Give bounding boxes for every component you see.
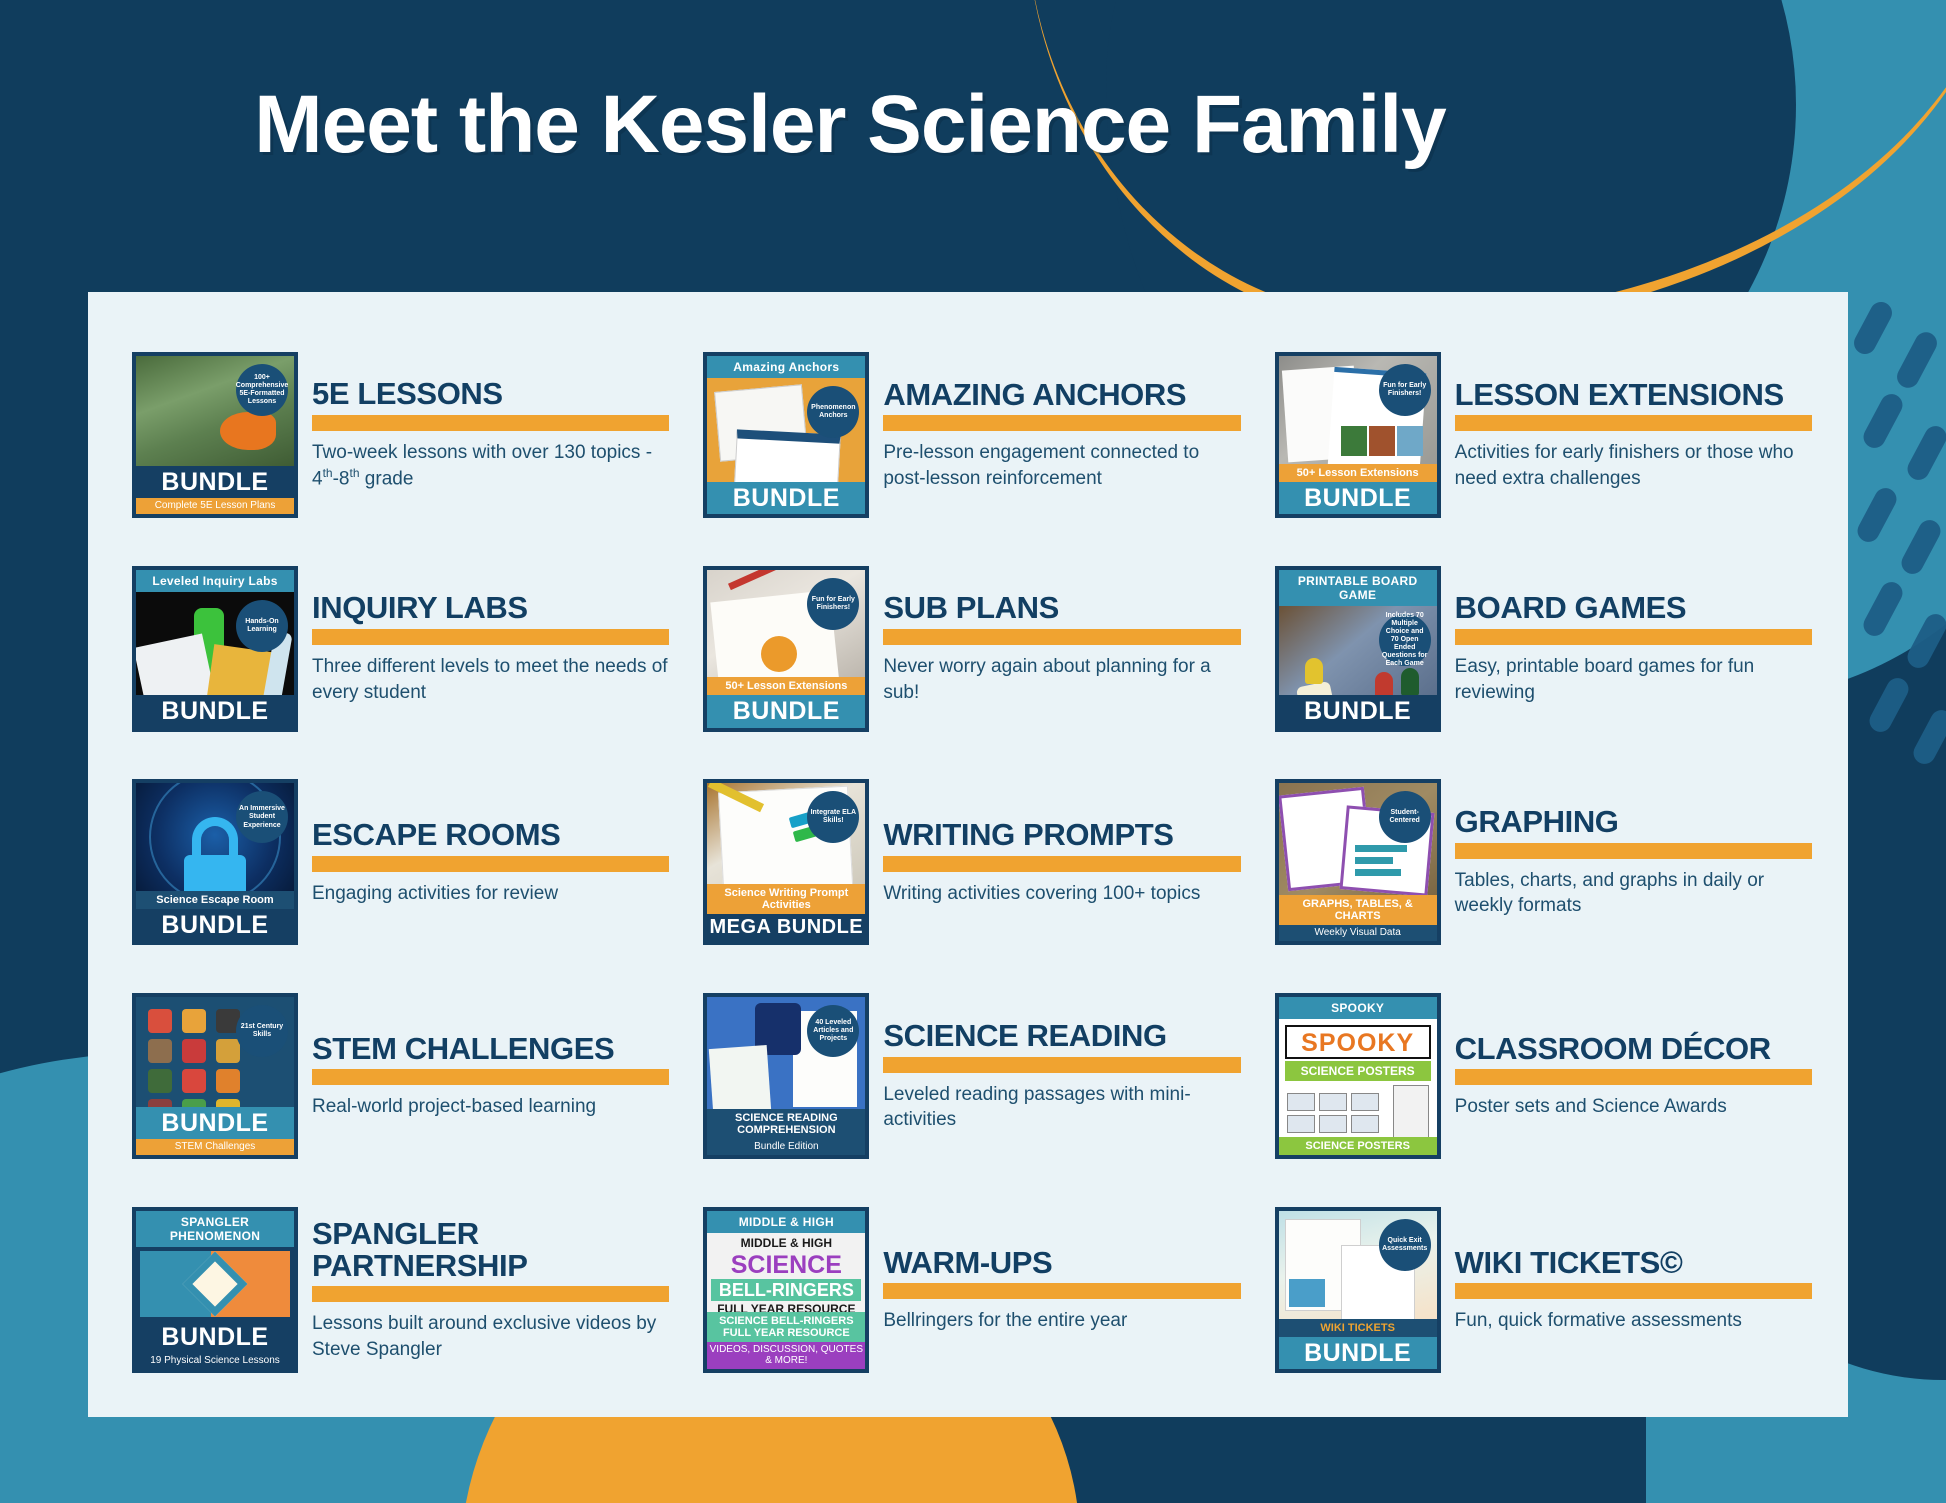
dash-decor [1860, 390, 1907, 452]
thumbnail-strip-label: 50+ Lesson Extensions [1279, 464, 1437, 482]
dash-decor [1866, 674, 1913, 736]
product-description: Tables, charts, and graphs in daily or w… [1455, 868, 1812, 919]
product-body: STEM CHALLENGESReal-world project-based … [312, 1033, 669, 1120]
product-heading: INQUIRY LABS [312, 592, 669, 624]
dash-decor [1860, 578, 1907, 640]
product-body: SCIENCE READINGLeveled reading passages … [883, 1020, 1240, 1133]
thumbnail-strip-label: 50+ Lesson Extensions [707, 677, 865, 695]
orange-underline [312, 1286, 669, 1302]
product-item[interactable]: Student-CenteredGRAPHS, TABLES, & CHARTS… [1257, 756, 1822, 970]
thumbnail-badge: Fun for Early Finishers! [807, 578, 859, 630]
product-body: GRAPHINGTables, charts, and graphs in da… [1455, 806, 1812, 919]
poster-thumb [1287, 1115, 1315, 1133]
orange-underline [312, 856, 669, 872]
orange-underline [883, 856, 1240, 872]
dash-decor [1898, 516, 1945, 578]
stem-icon [216, 1069, 240, 1093]
cover-science-text: SCIENCE [711, 1252, 861, 1278]
poster-thumb [1319, 1093, 1347, 1111]
product-thumbnail[interactable]: Quick Exit AssessmentsWIKI TICKETSBUNDLE [1275, 1207, 1441, 1373]
product-body: BOARD GAMESEasy, printable board games f… [1455, 592, 1812, 705]
thumbnail-sublabel: Weekly Visual Data [1279, 925, 1437, 941]
thumbnail-top-tag: SPOOKY [1279, 997, 1437, 1019]
thumbnail-image [136, 1247, 294, 1321]
fish-shape [220, 412, 276, 450]
product-heading: SPANGLER PARTNERSHIP [312, 1218, 669, 1281]
product-heading: SCIENCE READING [883, 1020, 1240, 1052]
thumbnail-badge: Student-Centered [1379, 791, 1431, 843]
thumbnail-top-tag: PRINTABLE BOARD GAME [1279, 570, 1437, 606]
product-thumbnail[interactable]: 40 Leveled Articles and ProjectsSCIENCE … [703, 993, 869, 1159]
poster-thumb [1287, 1093, 1315, 1111]
product-thumbnail[interactable]: 21st Century SkillsBUNDLESTEM Challenges [132, 993, 298, 1159]
product-description: Never worry again about planning for a s… [883, 654, 1240, 705]
product-body: ESCAPE ROOMSEngaging activities for revi… [312, 819, 669, 906]
thumbnail-bundle-label: BUNDLE [707, 695, 865, 727]
product-item[interactable]: 100+ Comprehensive 5E-Formatted LessonsB… [114, 328, 679, 542]
orange-underline [883, 1057, 1240, 1073]
thumbnail-top-tag: Leveled Inquiry Labs [136, 570, 294, 592]
bar-shape [1355, 869, 1401, 876]
thumbnail-image: Fun for Early Finishers! [1279, 356, 1437, 464]
thumbnail-badge: 100+ Comprehensive 5E-Formatted Lessons [236, 364, 288, 416]
pencil-shape [728, 570, 782, 590]
cover-bellringers-text: BELL-RINGERS [711, 1279, 861, 1301]
thumbnail-sublabel: 19 Physical Science Lessons [136, 1353, 294, 1369]
thumbnail-image: 40 Leveled Articles and Projects [707, 997, 865, 1109]
product-heading: WRITING PROMPTS [883, 819, 1240, 851]
product-thumbnail[interactable]: SPOOKYSPOOKYSCIENCE POSTERSSCIENCE POSTE… [1275, 993, 1441, 1159]
stem-icon [148, 1039, 172, 1063]
product-thumbnail[interactable]: SPANGLER PHENOMENONBUNDLE19 Physical Sci… [132, 1207, 298, 1373]
products-panel: 100+ Comprehensive 5E-Formatted LessonsB… [88, 292, 1848, 1417]
orange-underline [1455, 1283, 1812, 1299]
posters-subtitle: SCIENCE POSTERS [1285, 1061, 1431, 1081]
product-description: Real-world project-based learning [312, 1094, 669, 1119]
page-title: Meet the Kesler Science Family [0, 78, 1700, 172]
product-item[interactable]: Quick Exit AssessmentsWIKI TICKETSBUNDLE… [1257, 1183, 1822, 1397]
bar-shape [1355, 845, 1407, 852]
photo-tile [1369, 426, 1395, 456]
orange-underline [1455, 843, 1812, 859]
thumbnail-bundle-label: BUNDLE [1279, 695, 1437, 727]
thumbnail-image: An Immersive Student Experience [136, 783, 294, 891]
stem-icon [182, 1039, 206, 1063]
thumbnail-image: 21st Century Skills [136, 997, 294, 1107]
product-item[interactable]: Fun for Early Finishers!50+ Lesson Exten… [685, 542, 1250, 756]
thumbnail-bundle-label: BUNDLE [136, 695, 294, 727]
product-item[interactable]: 40 Leveled Articles and ProjectsSCIENCE … [685, 969, 1250, 1183]
product-item[interactable]: Fun for Early Finishers!50+ Lesson Exten… [1257, 328, 1822, 542]
thumbnail-sublabel: Bundle Edition [707, 1139, 865, 1155]
thumbnail-strip-label: WIKI TICKETS [1279, 1319, 1437, 1337]
thumbnail-badge: Fun for Early Finishers! [1379, 364, 1431, 416]
product-thumbnail[interactable]: MIDDLE & HIGHMIDDLE & HIGHSCIENCEBELL-RI… [703, 1207, 869, 1373]
stem-icon [148, 1099, 172, 1107]
photo-tile [1289, 1279, 1325, 1307]
photo-tile [1397, 426, 1423, 456]
product-item[interactable]: Integrate ELA Skills!Science Writing Pro… [685, 756, 1250, 970]
orange-underline [1455, 1069, 1812, 1085]
poster-thumb [1319, 1115, 1347, 1133]
orange-underline [1455, 629, 1812, 645]
cover-year-text: FULL YEAR RESOURCE [711, 1302, 861, 1312]
orange-underline [1455, 415, 1812, 431]
thumbnail-image: 100+ Comprehensive 5E-Formatted Lessons [136, 356, 294, 466]
product-description: Fun, quick formative assessments [1455, 1308, 1812, 1333]
poster-thumb [1351, 1093, 1379, 1111]
product-thumbnail[interactable]: Amazing AnchorsPhenomenon AnchorsBUNDLE [703, 352, 869, 518]
product-heading: WARM-UPS [883, 1247, 1240, 1279]
orange-underline [883, 415, 1240, 431]
orange-underline [883, 629, 1240, 645]
product-description: Two-week lessons with over 130 topics - … [312, 440, 669, 492]
product-item[interactable]: Leveled Inquiry LabsHands-On LearningBUN… [114, 542, 679, 756]
product-description: Bellringers for the entire year [883, 1308, 1240, 1333]
photo-tile [1341, 426, 1367, 456]
product-heading: SUB PLANS [883, 592, 1240, 624]
thumbnail-image: Student-Centered [1279, 783, 1437, 895]
thumbnail-strip-label: Science Escape Room [136, 891, 294, 909]
paper-shape [734, 429, 842, 481]
product-item[interactable]: An Immersive Student ExperienceScience E… [114, 756, 679, 970]
dash-decor [1893, 328, 1941, 391]
thumbnail-badge: 21st Century Skills [236, 1005, 288, 1057]
product-body: WRITING PROMPTSWriting activities coveri… [883, 819, 1240, 906]
stem-icon [182, 1099, 206, 1107]
paper-shape [709, 1045, 771, 1109]
product-body: LESSON EXTENSIONSActivities for early fi… [1455, 379, 1812, 492]
product-body: WARM-UPSBellringers for the entire year [883, 1247, 1240, 1334]
product-body: SPANGLER PARTNERSHIPLessons built around… [312, 1218, 669, 1362]
thumbnail-sublabel: Complete 5E Lesson Plans [136, 498, 294, 514]
thumbnail-bundle-label: BUNDLE [1279, 482, 1437, 514]
thumbnail-bundle-label: BUNDLE [707, 482, 865, 514]
pawn-shape [1375, 672, 1393, 696]
orange-underline [312, 1069, 669, 1085]
product-body: AMAZING ANCHORSPre-lesson engagement con… [883, 379, 1240, 492]
product-item[interactable]: MIDDLE & HIGHMIDDLE & HIGHSCIENCEBELL-RI… [685, 1183, 1250, 1397]
cover-top-text: MIDDLE & HIGH [711, 1236, 861, 1252]
product-body: WIKI TICKETS©Fun, quick formative assess… [1455, 1247, 1812, 1334]
stem-icon [216, 1039, 240, 1063]
thumbnail-image: SPOOKYSCIENCE POSTERS [1279, 1019, 1437, 1137]
thumbnail-badge: Hands-On Learning [236, 600, 288, 652]
product-description: Easy, printable board games for fun revi… [1455, 654, 1812, 705]
thumbnail-sublabel: STEM Challenges [136, 1139, 294, 1155]
product-thumbnail[interactable]: An Immersive Student ExperienceScience E… [132, 779, 298, 945]
product-heading: CLASSROOM DÉCOR [1455, 1033, 1812, 1065]
poster-thumb [1393, 1085, 1429, 1137]
pawn-shape [1305, 658, 1323, 684]
thumbnail-strip-label: Science Writing Prompt Activities [707, 884, 865, 914]
product-heading: AMAZING ANCHORS [883, 379, 1240, 411]
product-description: Three different levels to meet the needs… [312, 654, 669, 705]
thumbnail-strip-label: SCIENCE BELL-RINGERS FULL YEAR RESOURCE [707, 1312, 865, 1342]
product-thumbnail[interactable]: Fun for Early Finishers!50+ Lesson Exten… [703, 566, 869, 732]
product-heading: WIKI TICKETS© [1455, 1247, 1812, 1279]
product-thumbnail[interactable]: PRINTABLE BOARD GAMEIncludes 70 Multiple… [1275, 566, 1441, 732]
product-item[interactable]: Amazing AnchorsPhenomenon AnchorsBUNDLEA… [685, 328, 1250, 542]
product-body: INQUIRY LABSThree different levels to me… [312, 592, 669, 705]
thumbnail-image: Quick Exit Assessments [1279, 1211, 1437, 1319]
stem-icon [148, 1009, 172, 1033]
stem-icon [148, 1069, 172, 1093]
product-heading: BOARD GAMES [1455, 592, 1812, 624]
product-item[interactable]: 21st Century SkillsBUNDLESTEM Challenges… [114, 969, 679, 1183]
orange-underline [312, 629, 669, 645]
product-description: Poster sets and Science Awards [1455, 1094, 1812, 1119]
thumbnail-top-tag: SPANGLER PHENOMENON [136, 1211, 294, 1247]
product-item[interactable]: PRINTABLE BOARD GAMEIncludes 70 Multiple… [1257, 542, 1822, 756]
spooky-title: SPOOKY [1285, 1025, 1431, 1059]
thumbnail-badge: Integrate ELA Skills! [807, 791, 859, 843]
thumbnail-strip-label: GRAPHS, TABLES, & CHARTS [1279, 895, 1437, 925]
product-body: CLASSROOM DÉCORPoster sets and Science A… [1455, 1033, 1812, 1120]
thumbnail-bundle-label: BUNDLE [1279, 1337, 1437, 1369]
thumbnail-bundle-label: BUNDLE [136, 466, 294, 498]
product-thumbnail[interactable]: Leveled Inquiry LabsHands-On LearningBUN… [132, 566, 298, 732]
stem-icon [216, 1099, 240, 1107]
thumbnail-bundle-label: BUNDLE [136, 1321, 294, 1353]
product-thumbnail[interactable]: Integrate ELA Skills!Science Writing Pro… [703, 779, 869, 945]
product-thumbnail[interactable]: 100+ Comprehensive 5E-Formatted LessonsB… [132, 352, 298, 518]
product-heading: 5E LESSONS [312, 378, 669, 410]
dash-decor [1904, 610, 1946, 672]
thumbnail-image: Integrate ELA Skills! [707, 783, 865, 884]
thumbnail-image: MIDDLE & HIGHSCIENCEBELL-RINGERSFULL YEA… [707, 1233, 865, 1312]
thumbnail-bundle-label: BUNDLE [136, 909, 294, 941]
dash-decor [1910, 706, 1946, 768]
product-item[interactable]: SPANGLER PHENOMENONBUNDLE19 Physical Sci… [114, 1183, 679, 1397]
product-heading: LESSON EXTENSIONS [1455, 379, 1812, 411]
orange-circle [761, 636, 797, 672]
product-description: Writing activities covering 100+ topics [883, 881, 1240, 906]
thumbnail-badge: Phenomenon Anchors [807, 386, 859, 438]
product-body: SUB PLANSNever worry again about plannin… [883, 592, 1240, 705]
thumbnail-top-tag: Amazing Anchors [707, 356, 865, 378]
product-item[interactable]: SPOOKYSPOOKYSCIENCE POSTERSSCIENCE POSTE… [1257, 969, 1822, 1183]
infographic-canvas: Meet the Kesler Science Family 100+ Comp… [0, 0, 1946, 1503]
thumbnail-bundle-label: BUNDLE [136, 1107, 294, 1139]
thumbnail-image: Fun for Early Finishers! [707, 570, 865, 678]
product-description: Lessons built around exclusive videos by… [312, 1311, 669, 1362]
product-heading: STEM CHALLENGES [312, 1033, 669, 1065]
dash-decor [1904, 422, 1946, 484]
bar-shape [1355, 857, 1393, 864]
pawn-shape [1401, 668, 1419, 696]
stem-icon [182, 1009, 206, 1033]
thumbnail-image: Includes 70 Multiple Choice and 70 Open … [1279, 606, 1437, 696]
product-description: Engaging activities for review [312, 881, 669, 906]
thumbnail-top-tag: MIDDLE & HIGH [707, 1211, 865, 1233]
thumbnail-badge: Includes 70 Multiple Choice and 70 Open … [1379, 614, 1431, 666]
thumbnail-bundle-label: MEGA BUNDLE [707, 914, 865, 941]
product-body: 5E LESSONSTwo-week lessons with over 130… [312, 378, 669, 492]
dash-decor [1850, 298, 1896, 358]
product-description: Pre-lesson engagement connected to post-… [883, 440, 1240, 491]
thumbnail-badge: Quick Exit Assessments [1379, 1219, 1431, 1271]
orange-underline [312, 415, 669, 431]
thumbnail-image: Hands-On Learning [136, 592, 294, 696]
product-heading: GRAPHING [1455, 806, 1812, 838]
product-thumbnail[interactable]: Fun for Early Finishers!50+ Lesson Exten… [1275, 352, 1441, 518]
thumbnail-strip-label: SCIENCE POSTERS [1279, 1137, 1437, 1155]
thumbnail-sublabel: VIDEOS, DISCUSSION, QUOTES & MORE! [707, 1342, 865, 1369]
stem-icon [182, 1069, 206, 1093]
product-thumbnail[interactable]: Student-CenteredGRAPHS, TABLES, & CHARTS… [1275, 779, 1441, 945]
orange-underline [883, 1283, 1240, 1299]
products-grid: 100+ Comprehensive 5E-Formatted LessonsB… [114, 328, 1822, 1397]
thumbnail-image: Phenomenon Anchors [707, 378, 865, 482]
thumbnail-strip-label: SCIENCE READING COMPREHENSION [707, 1109, 865, 1139]
product-description: Activities for early finishers or those … [1455, 440, 1812, 491]
product-heading: ESCAPE ROOMS [312, 819, 669, 851]
product-description: Leveled reading passages with mini-activ… [883, 1082, 1240, 1133]
dash-decor [1854, 484, 1901, 546]
poster-thumb [1351, 1115, 1379, 1133]
